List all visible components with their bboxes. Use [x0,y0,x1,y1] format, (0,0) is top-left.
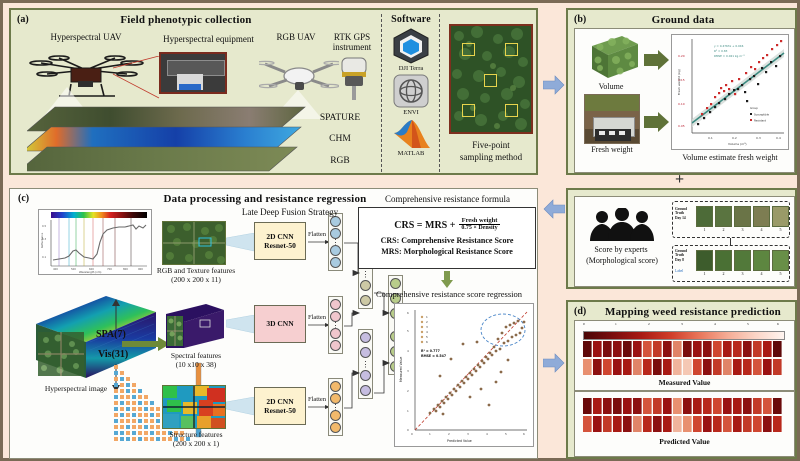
fresh-weight-photo [584,94,640,144]
structure-branch-connector [226,397,254,417]
svg-text:5: 5 [407,329,409,333]
panel-a: (a) Field phenotypic collection Hyperspe… [9,8,538,175]
svg-text:R² = 0.83: R² = 0.83 [714,49,728,53]
volume-weight-scatter-svg: 0.050.10 0.150.20 0.10.2 0.30.4 y = 0.47… [672,35,788,149]
predicted-value-grid [583,398,785,433]
arrow-c-to-d [543,353,565,373]
panel-a-title: Field phenotypic collection [51,14,321,26]
colorbar-tick-2: 2 [648,323,650,327]
rgb-texture-feature-image [162,221,226,265]
svg-text:Fresh weight (kg): Fresh weight (kg) [677,69,681,95]
gt-day14-patch-3 [734,206,751,227]
svg-text:0.3: 0.3 [756,136,761,140]
sampling-point-2 [505,43,518,56]
svg-text:3: 3 [426,325,428,329]
gt-day8-score-4: 4 [753,272,770,276]
matlab-icon [393,118,431,150]
svg-text:Predicted Value: Predicted Value [447,439,472,443]
volume-weight-scatter: 0.050.10 0.150.20 0.10.2 0.30.4 y = 0.47… [671,34,789,150]
svg-text:700: 700 [107,267,112,271]
arrow-weight-to-plot [644,112,670,132]
gt-day14-score-2: 2 [715,228,732,232]
svg-text:1: 1 [407,409,409,413]
prediction-colorbar [583,331,785,340]
fresh-weight-label: Fresh weight [576,146,648,155]
svg-text:0.2: 0.2 [732,136,737,140]
five-point-sampling-image [449,24,533,134]
cnn-rgb-line2: Resnet-50 [264,241,296,250]
svg-text:Volume (m³): Volume (m³) [728,142,747,146]
regression-plot-title: Comprehensive resistance score regressio… [360,289,538,299]
panel-c-tag: (c) [18,193,29,204]
svg-text:3: 3 [467,432,469,436]
measured-value-label: Measured Value [575,379,794,387]
arrow-a-to-b [543,75,565,95]
svg-text:Wavelength (nm): Wavelength (nm) [79,270,101,274]
spectral-curve-plot: 400500600 700800900 0.50.30.1 Wavelength… [38,209,152,275]
plot-caption-volume-estimate: Volume estimate fresh weight [668,154,792,163]
panel-b-experts: Score by experts (Morphological score) G… [566,188,797,289]
svg-text:4: 4 [426,330,428,334]
sampling-caption-line1: Five-point [445,140,537,150]
colorbar-tick-1: 1 [615,323,617,327]
gt-day8-patch-2 [715,250,732,271]
spectral-feature-dims: (10 x10 x 38) [150,361,242,369]
structure-feature-dims: (200 x 200 x 1) [150,440,242,448]
svg-text:1: 1 [426,315,428,319]
svg-text:Resistant: Resistant [754,119,766,123]
rgb-texture-canvas [163,222,225,264]
raster-layer-stack [27,105,307,173]
svg-text:0.5: 0.5 [42,224,46,228]
gt-day14-patch-5 [772,206,789,227]
panel-b: (b) Ground data Volume Fresh w [566,8,797,175]
software-label-dji-terra: DJI Terra [383,65,439,72]
spectral-curve-svg: 400500600 700800900 0.50.30.1 Wavelength… [39,210,151,274]
ground-truth-day14-row: Ground Truth Day 14 1 2 3 4 5 [672,201,790,238]
structure-heatmap [163,386,225,428]
svg-text:Measured Value: Measured Value [399,357,403,382]
ground-truth-day8-label: Ground Truth Day 8 [675,249,695,262]
svg-text:R² = 0.777: R² = 0.777 [421,349,440,353]
svg-text:500: 500 [71,267,76,271]
gt-day8-patch-1 [696,250,713,271]
sampling-point-4 [462,104,475,117]
software-heading: Software [383,14,439,25]
cnn-spectral-line1: 3D CNN [266,319,293,328]
sampling-point-5 [505,104,518,117]
rtk-gps-icon [336,50,372,102]
formula-denominator: 0.75 × Density [459,225,499,231]
experts-label-line2: (Morphological score) [572,257,672,266]
resistance-regression-svg: 1 2 3 4 5 6 R² = 0.777 RMSE = 0.547 012 … [395,304,533,446]
gt-day8-score-3: 3 [734,272,751,276]
label-layer-chm: CHM [303,134,377,145]
colorbar-tick-3: 3 [681,323,683,327]
svg-text:0.1: 0.1 [708,136,713,140]
svg-text:0.20: 0.20 [678,54,685,58]
svg-text:4: 4 [486,432,488,436]
cnn-2d-resnet50-structure: 2D CNN Resnet-50 [254,387,306,425]
flatten-label-structure: Flatten [308,396,326,403]
ground-truth-label-tag: Label [675,270,695,274]
gt-day8-score-2: 2 [715,272,732,276]
rgb-branch-connector [226,233,254,253]
svg-text:5: 5 [426,335,428,339]
cnn-structure-line1: 2D CNN [266,397,293,406]
svg-text:0.4: 0.4 [776,136,781,140]
formula-equation-left: CRS = MRS + [394,220,455,231]
panel-b-tag: (b) [574,14,586,25]
neuron-dots-rgb: ⋮ [332,240,340,245]
software-label-matlab: MATLAB [383,150,439,157]
rgb-texture-feature-dims: (200 x 200 x 11) [150,276,242,284]
equipment-callout-lines [111,56,163,101]
panel-c-formula-heading: Comprehensive resistance formula [360,194,535,204]
figure-root: (a) Field phenotypic collection Hyperspe… [0,0,800,461]
volume-cube-icon [582,34,640,82]
svg-text:RMSE = 0.021 kg·m⁻³: RMSE = 0.021 kg·m⁻³ [714,54,745,58]
gt-day14-patch-2 [715,206,732,227]
flatten-label-spectral: Flatten [308,314,326,321]
gt-day8-score-5: 5 [772,272,789,276]
gt-day14-score-5: 5 [772,228,789,232]
divider-software-left [381,14,382,172]
volume-label: Volume [580,83,642,92]
arrow-volume-to-plot [644,50,670,70]
flatten-arrow-spectral [308,322,330,328]
svg-text:Group: Group [750,106,758,110]
formula-def-mrs: MRS: Morphological Resistance Score [359,247,535,258]
sampling-point-1 [462,43,475,56]
svg-text:900: 900 [138,267,143,271]
spa-arrow [110,299,122,329]
gt-day14-score-3: 3 [734,228,751,232]
spectral-feature-cube [162,302,226,350]
svg-text:4: 4 [407,349,409,353]
cnn-3d-spectral: 3D CNN [254,305,306,343]
panel-c-title: Data processing and resistance regressio… [150,193,380,205]
dji-terra-icon [392,28,430,64]
crs-formula-box: CRS = MRS + Fresh weight 0.75 × Density … [358,207,536,269]
software-label-envi: ENVI [383,109,439,116]
ground-truth-day14-label: Ground Truth Day 14 [675,207,695,220]
colorbar-tick-0: 0 [583,323,585,327]
divider-software-right [439,14,440,172]
svg-text:5: 5 [505,432,507,436]
colorbar-tick-6: 6 [777,323,779,327]
label-hyperspectral-uav: Hyperspectral UAV [31,32,141,42]
measured-value-grid [583,341,785,376]
formula-numerator: Fresh weight [459,217,499,225]
flatten-label-rgb: Flatten [308,231,326,238]
svg-text:6: 6 [523,432,525,436]
label-layer-spature: SPATURE [303,113,377,124]
gt-day8-score-1: 1 [696,272,713,276]
flatten-arrow-structure [308,404,330,410]
panel-d-title: Mapping weed resistance prediction [598,306,788,318]
panel-c: (c) Data processing and resistance regre… [9,188,538,459]
svg-text:0.1: 0.1 [42,255,46,259]
sampling-caption-line2: sampling method [441,152,541,162]
structure-feature-image [162,385,226,429]
svg-text:400: 400 [53,267,58,271]
panel-d-tag: (d) [574,306,586,317]
svg-text:2: 2 [426,320,428,324]
gt-day14-patch-1 [696,206,713,227]
cnn-2d-resnet50-rgb: 2D CNN Resnet-50 [254,222,306,260]
hyperspectral-equipment-photo [159,52,227,94]
resistance-regression-scatter: 1 2 3 4 5 6 R² = 0.777 RMSE = 0.547 012 … [394,303,534,447]
svg-text:y = 0.4763x + 0.046: y = 0.4763x + 0.046 [714,44,744,48]
colorbar-tick-5: 5 [747,323,749,327]
predicted-value-block: Predicted Value [574,391,795,457]
measured-value-block: 0 1 2 3 4 5 6 [574,320,795,391]
ground-truth-day8-row: Ground Truth Day 8 Label 1 2 3 4 5 [672,245,790,282]
colorbar-tick-4: 4 [714,323,716,327]
plus-sign: + [675,171,684,189]
panel-d: (d) Mapping weed resistance prediction 0… [566,300,797,459]
svg-text:3: 3 [407,369,409,373]
colorbar-ticks: 0 1 2 3 4 5 6 [583,323,783,331]
formula-fraction: Fresh weight 0.75 × Density [459,217,499,231]
panel-b-title: Ground data [608,14,758,26]
spectral-branch-connector [226,315,254,335]
svg-text:1: 1 [429,432,431,436]
neuron-dots-structure: ⋮ [332,405,340,410]
arrow-b-to-formula [543,199,565,219]
sampling-point-3 [484,74,497,87]
neuron-dots-spectral: ⋮ [332,323,340,328]
svg-text:6: 6 [426,340,428,344]
gt-day8-patch-4 [753,250,770,271]
gt-day8-patch-5 [772,250,789,271]
envi-icon [393,74,429,108]
gt-day8-patch-3 [734,250,751,271]
panel-a-tag: (a) [17,14,29,25]
gt-day14-score-1: 1 [696,228,713,232]
experts-label-line1: Score by experts [574,246,668,255]
svg-text:6: 6 [407,311,409,315]
cnn-rgb-line1: 2D CNN [266,232,293,241]
formula-down-arrow [440,271,454,289]
experts-people-icon [588,208,656,242]
gt-day14-score-4: 4 [753,228,770,232]
label-layer-rgb: RGB [303,156,377,167]
svg-text:0.05: 0.05 [678,124,685,128]
svg-text:2: 2 [448,432,450,436]
flatten-arrow-rgb [308,239,330,245]
predicted-value-label: Predicted Value [575,438,794,446]
svg-text:2: 2 [407,389,409,393]
svg-text:800: 800 [123,267,128,271]
gt-day14-patch-4 [753,206,770,227]
svg-text:Reflectance: Reflectance [40,232,44,248]
svg-text:0.10: 0.10 [678,102,685,106]
cnn-structure-line2: Resnet-50 [264,406,296,415]
spectral-cube-small [162,302,226,350]
svg-text:Susceptible: Susceptible [754,113,769,117]
formula-def-crs: CRS: Comprehensive Resistance Score [359,236,535,247]
svg-text:0: 0 [411,432,413,436]
svg-text:RMSE = 0.547: RMSE = 0.547 [421,354,446,358]
svg-text:0: 0 [407,428,409,432]
